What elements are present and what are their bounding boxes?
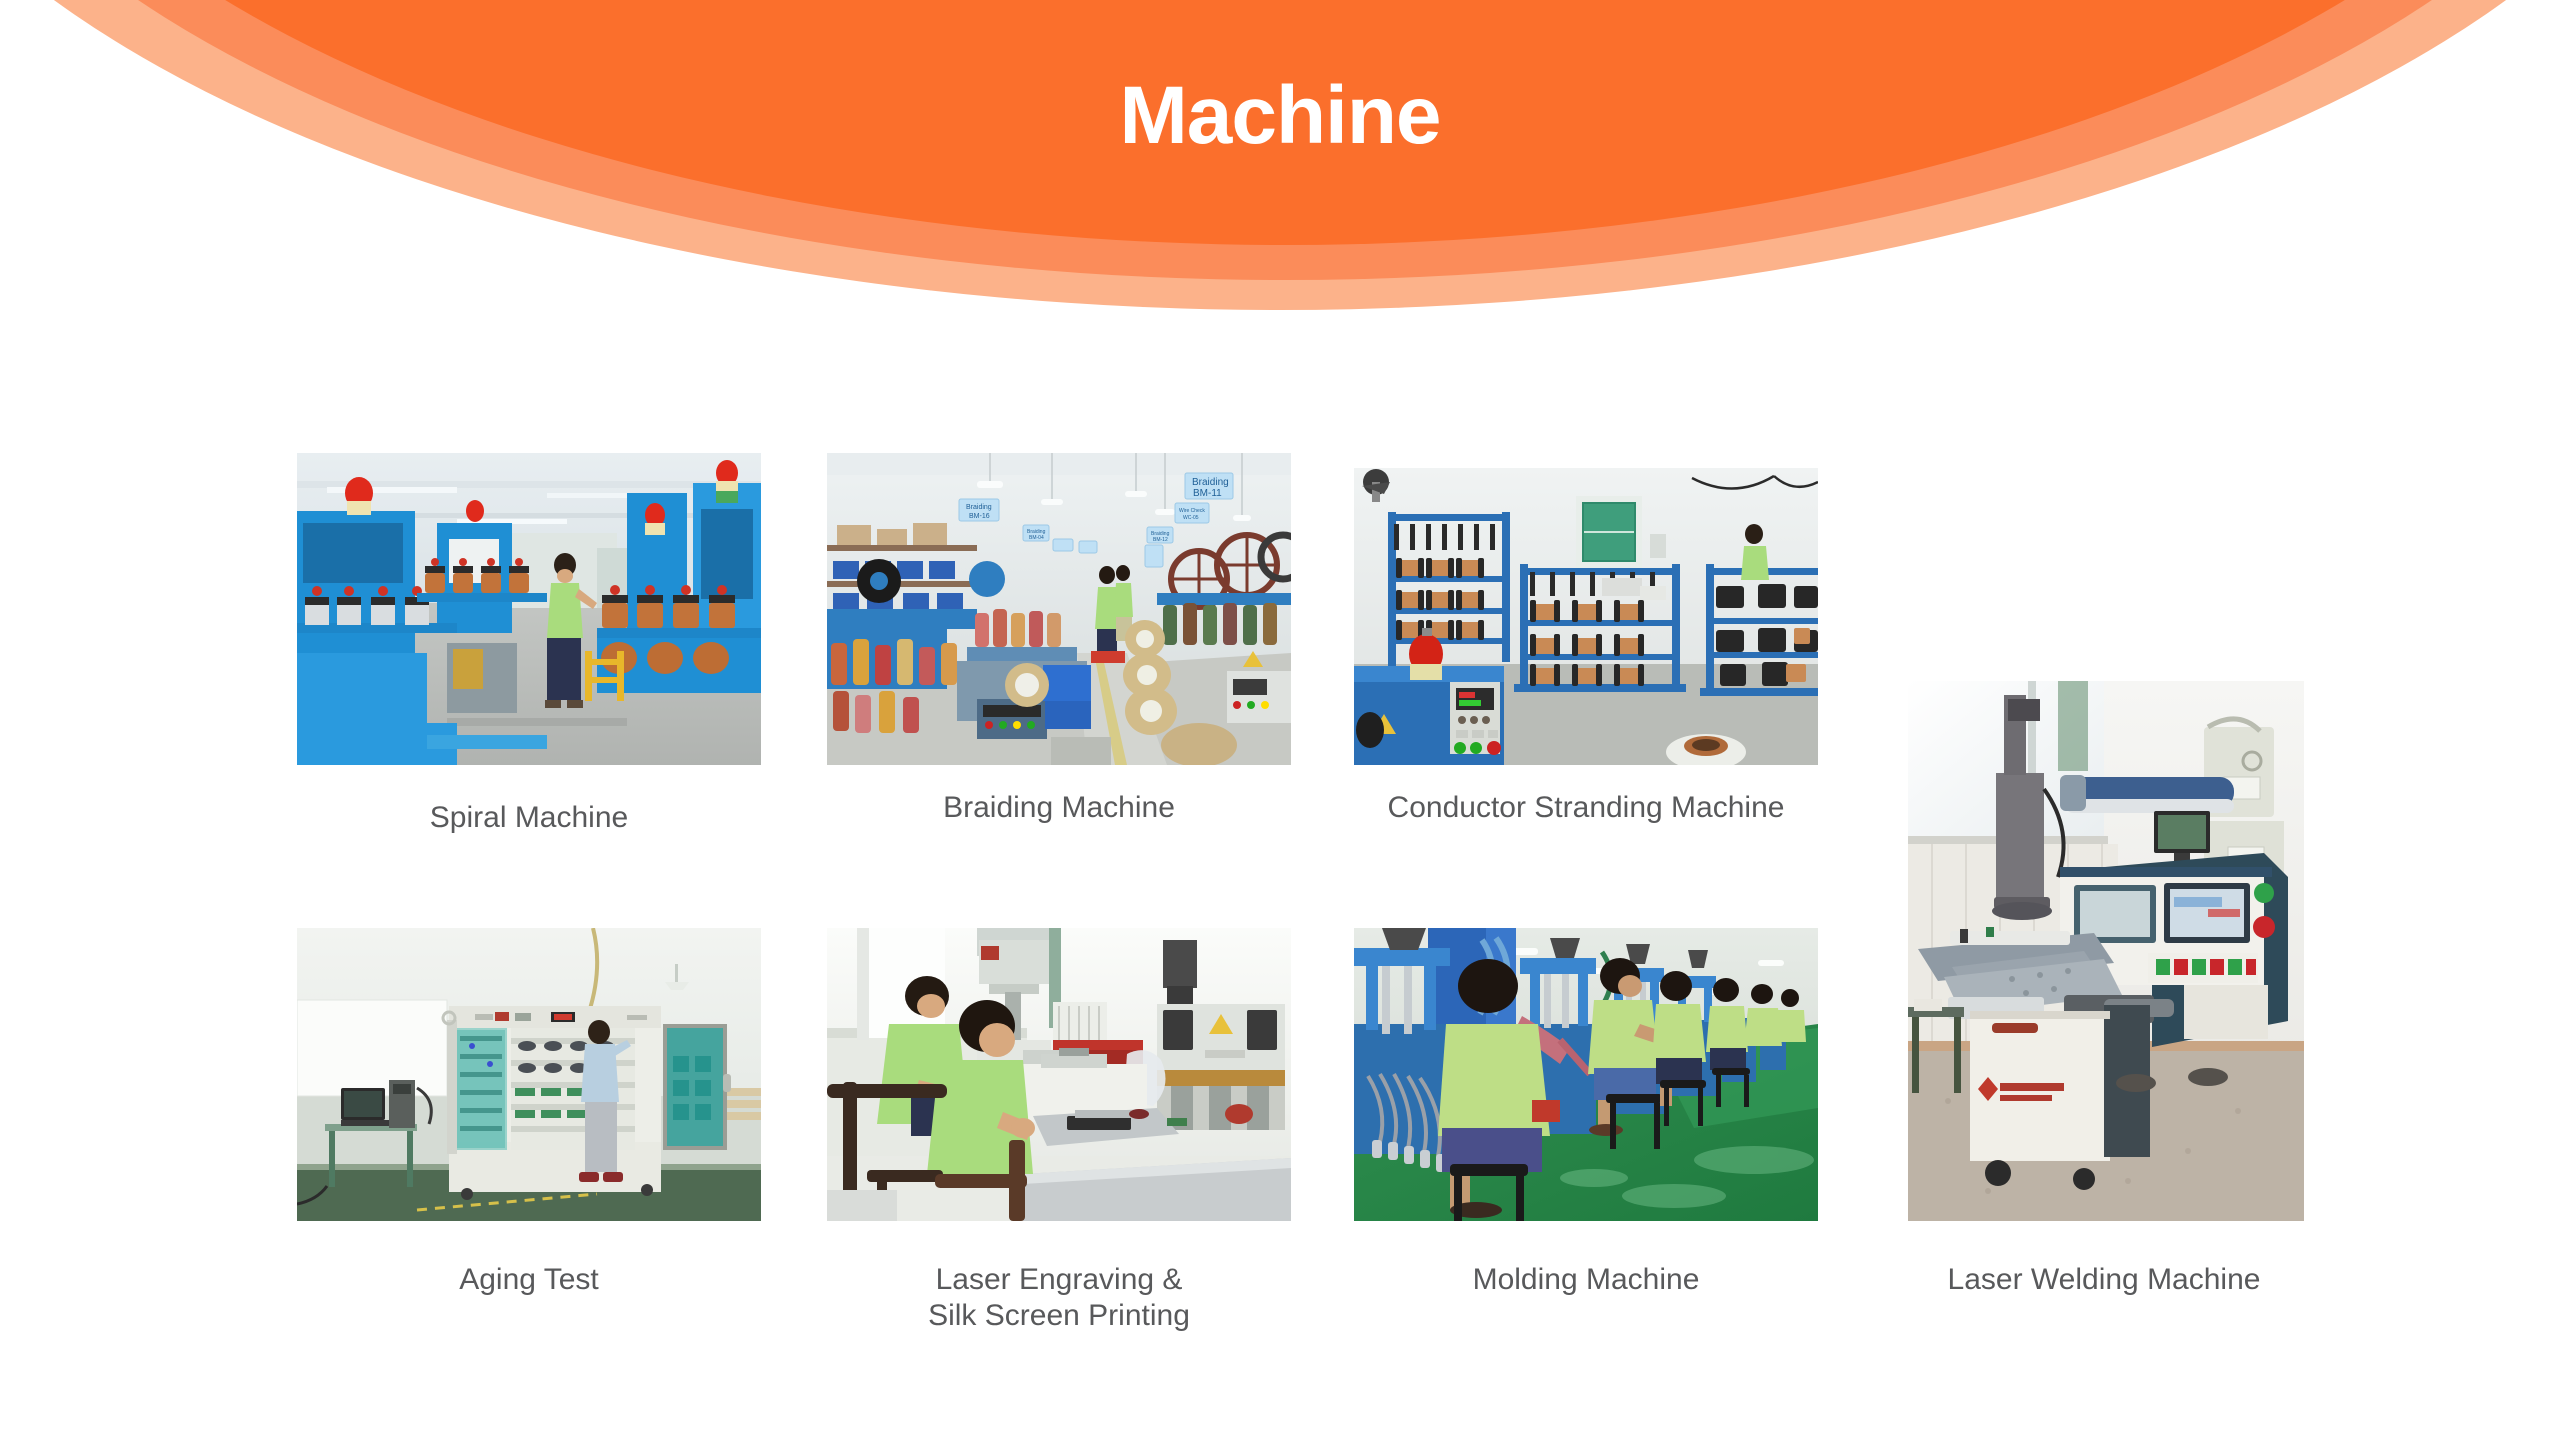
- svg-text:Wire Check: Wire Check: [1179, 508, 1205, 514]
- laser-welding-illustration: [1908, 681, 2304, 1221]
- caption-braiding-machine: Braiding Machine: [827, 790, 1291, 826]
- machine-gallery: Spiral Machine: [0, 0, 2560, 1440]
- gallery-item-aging-test[interactable]: Aging Test: [297, 928, 761, 1221]
- svg-text:Braiding: Braiding: [1192, 477, 1229, 488]
- photo-molding-machine[interactable]: [1354, 928, 1818, 1221]
- caption-laser-welding-machine: Laser Welding Machine: [1872, 1262, 2336, 1298]
- caption-conductor-stranding-machine: Conductor Stranding Machine: [1354, 790, 1818, 826]
- conductor-stranding-illustration: [1354, 468, 1818, 765]
- svg-text:BM-11: BM-11: [1193, 488, 1222, 499]
- caption-molding-machine: Molding Machine: [1354, 1262, 1818, 1298]
- spiral-machine-illustration: [297, 453, 761, 765]
- svg-text:BM-04: BM-04: [1029, 535, 1044, 541]
- photo-spiral-machine[interactable]: [297, 453, 761, 765]
- photo-laser-welding-machine[interactable]: [1908, 681, 2304, 1221]
- caption-aging-test: Aging Test: [297, 1262, 761, 1298]
- svg-text:WC-05: WC-05: [1183, 515, 1199, 521]
- page-title: Machine: [0, 75, 2560, 157]
- svg-text:BM-12: BM-12: [1153, 537, 1168, 543]
- gallery-item-laser-welding-machine[interactable]: Laser Welding Machine: [1908, 681, 2304, 1221]
- photo-aging-test[interactable]: [297, 928, 761, 1221]
- gallery-item-braiding-machine[interactable]: Braiding BM-16 Braiding BM-11 Wire Check…: [827, 453, 1291, 765]
- aging-test-illustration: [297, 928, 761, 1221]
- photo-conductor-stranding-machine[interactable]: [1354, 468, 1818, 765]
- gallery-item-conductor-stranding-machine[interactable]: Conductor Stranding Machine: [1354, 468, 1818, 765]
- photo-laser-engraving-silk-screen-printing[interactable]: [827, 928, 1291, 1221]
- laser-engraving-illustration: [827, 928, 1291, 1221]
- svg-text:BM-16: BM-16: [969, 513, 990, 520]
- caption-laser-engraving-silk-screen-printing: Laser Engraving & Silk Screen Printing: [827, 1262, 1291, 1334]
- gallery-item-molding-machine[interactable]: Molding Machine: [1354, 928, 1818, 1221]
- molding-machine-illustration: [1354, 928, 1818, 1221]
- gallery-item-laser-engraving-silk-screen-printing[interactable]: Laser Engraving & Silk Screen Printing: [827, 928, 1291, 1221]
- photo-braiding-machine[interactable]: Braiding BM-16 Braiding BM-11 Wire Check…: [827, 453, 1291, 765]
- gallery-item-spiral-machine[interactable]: Spiral Machine: [297, 453, 761, 765]
- svg-text:Braiding: Braiding: [966, 504, 992, 511]
- caption-spiral-machine: Spiral Machine: [297, 800, 761, 836]
- braiding-machine-illustration: Braiding BM-16 Braiding BM-11 Wire Check…: [827, 453, 1291, 765]
